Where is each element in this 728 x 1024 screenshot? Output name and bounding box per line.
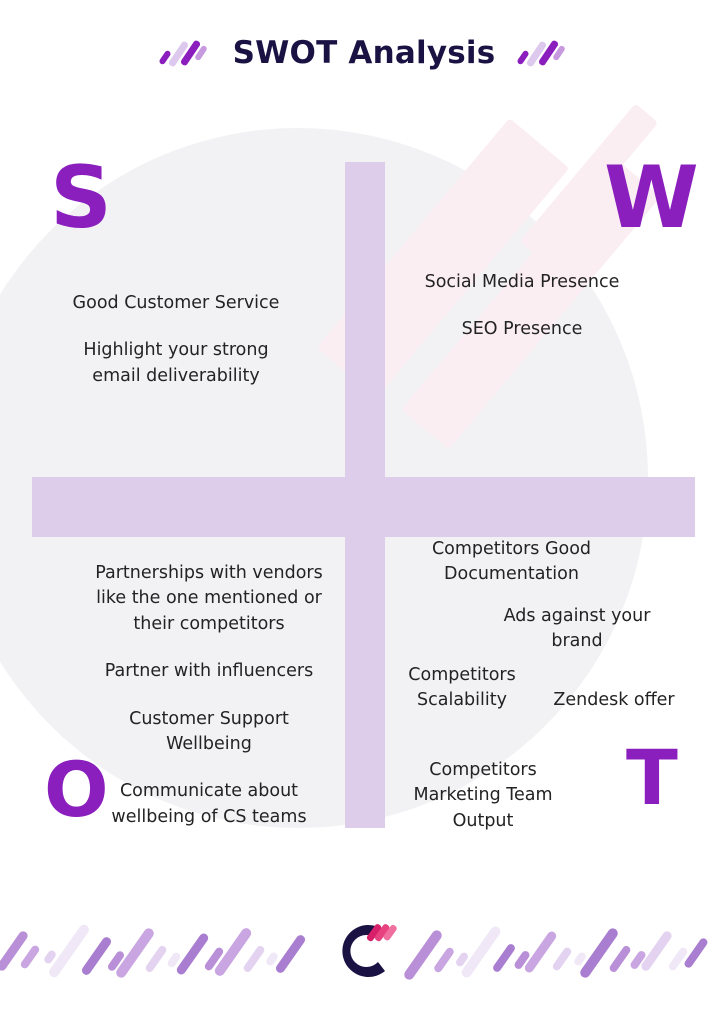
diagonal-slash-icon	[402, 928, 443, 981]
weaknesses-item: Social Media Presence	[404, 270, 640, 295]
opportunities-item: Customer Support Wellbeing	[92, 707, 326, 758]
threats-item: Competitors Marketing Team Output	[400, 758, 566, 834]
diagonal-slashes-icon	[517, 33, 569, 73]
crisp-c-logo	[336, 917, 400, 985]
threats-item: Competitors Good Documentation	[404, 537, 619, 588]
diagonal-slash-icon	[608, 944, 632, 973]
diagonal-slash-icon	[433, 946, 456, 974]
weaknesses-item: SEO Presence	[404, 317, 640, 342]
opportunities-item: Communicate about wellbeing of CS teams	[92, 779, 326, 830]
diagonal-slash-icon	[492, 943, 517, 974]
strengths-item: Good Customer Service	[58, 291, 294, 316]
strengths-item: Highlight your strong email deliverabili…	[58, 338, 294, 389]
horizontal-divider-bar	[32, 477, 695, 537]
diagonal-slash-icon	[144, 944, 168, 973]
threats-item: Ads against your brand	[488, 604, 666, 655]
diagonal-slash-icon	[19, 944, 40, 970]
quadrant-opportunities: Partnerships with vendors like the one m…	[92, 561, 326, 830]
diagonal-slash-icon	[175, 932, 210, 976]
threats-item: Zendesk offer	[540, 688, 688, 713]
page-title: SWOT Analysis	[233, 35, 496, 71]
diagonal-slash-icon	[274, 933, 307, 974]
quadrant-strengths: Good Customer Service Highlight your str…	[58, 291, 294, 389]
opportunities-item: Partner with influencers	[92, 659, 326, 684]
quadrant-weaknesses: Social Media Presence SEO Presence	[404, 270, 640, 343]
opportunities-item: Partnerships with vendors like the one m…	[92, 561, 326, 637]
diagonal-slash-icon	[80, 935, 113, 976]
swot-analysis-poster: SWOT Analysis S W O T Good Customer Serv…	[0, 0, 728, 1024]
diagonal-slash-icon	[551, 946, 572, 972]
poster-header: SWOT Analysis	[0, 24, 728, 82]
threats-item: Competitors Scalability	[392, 663, 532, 714]
quadrant-letter-strengths: S	[50, 155, 112, 241]
diagonal-slashes-icon	[159, 33, 211, 73]
quadrant-letter-weaknesses: W	[604, 155, 699, 241]
diagonal-slash-icon	[242, 944, 266, 973]
quadrant-letter-threats: T	[626, 740, 678, 816]
